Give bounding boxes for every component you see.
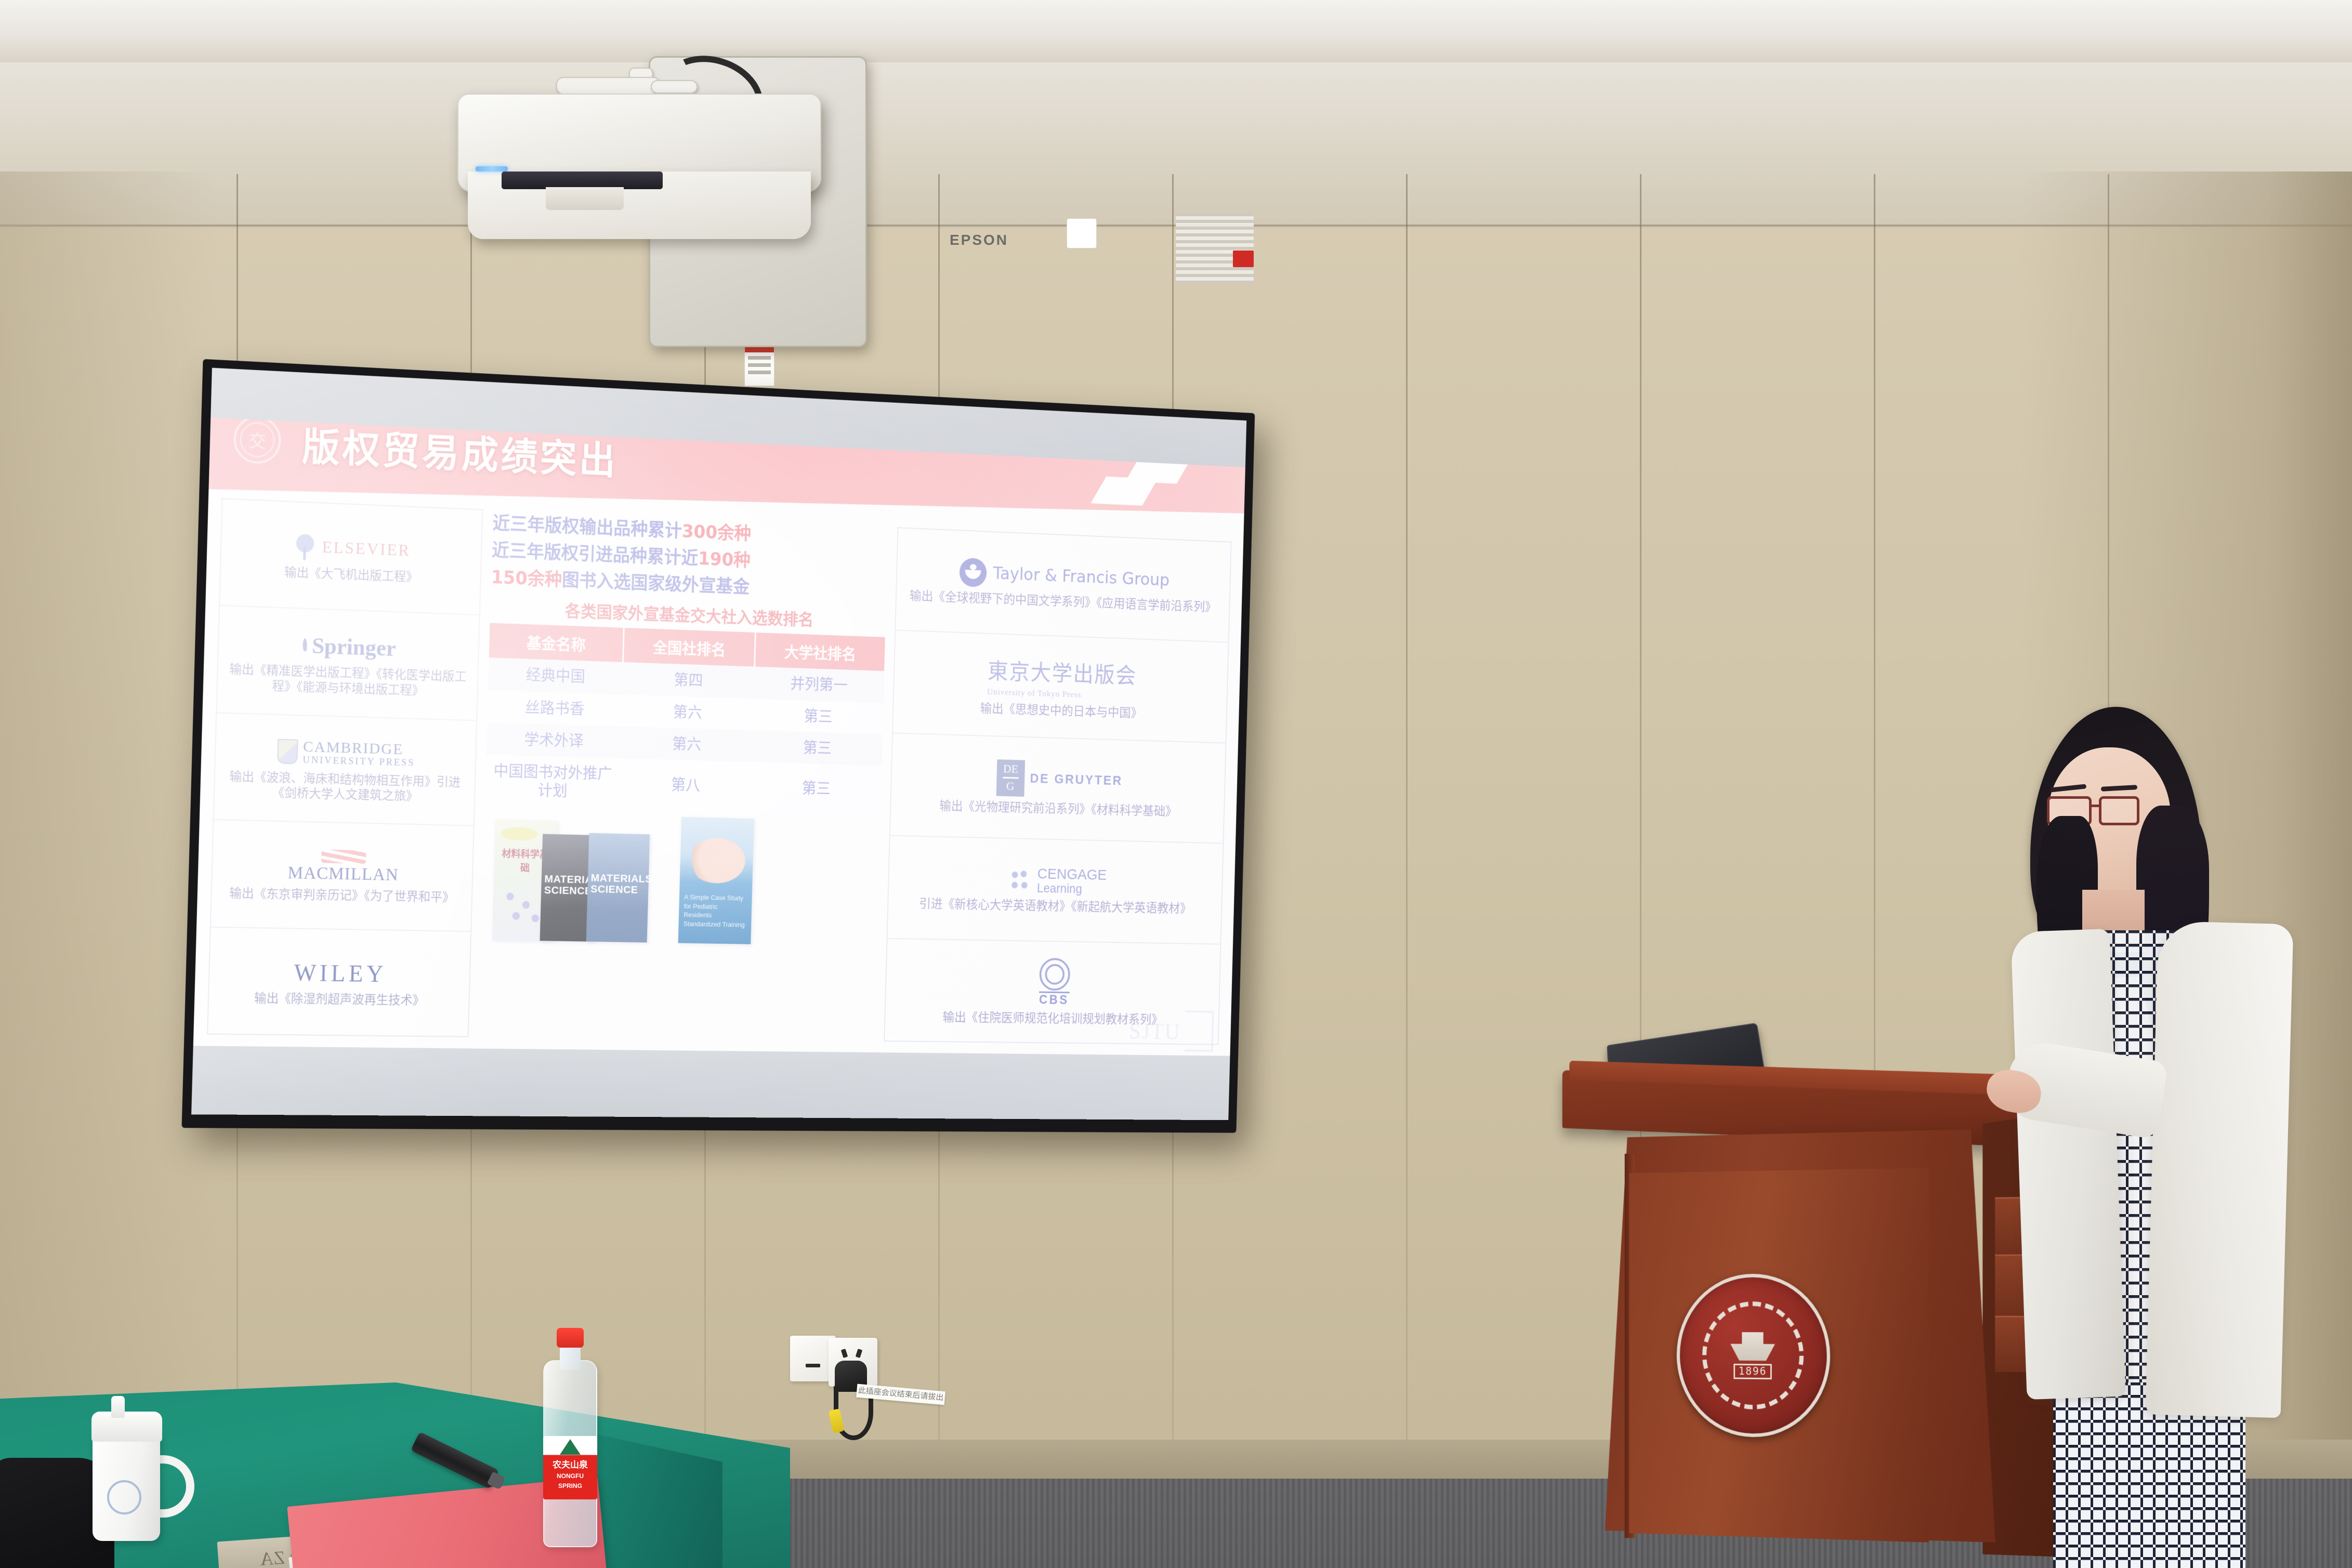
wall-power-outlet[interactable]: 此插座会议结束后请拔出	[790, 1336, 910, 1455]
cell-fund-name: 学术外译	[487, 722, 621, 758]
publisher-note: 输出《大飞机出版工程》	[284, 564, 418, 585]
bottle-cap[interactable]	[557, 1328, 584, 1348]
emblem-year: 1896	[1733, 1363, 1772, 1379]
cell-fund-name: 中国图书对外推广计划	[485, 755, 620, 808]
center-statistics-column: 近三年版权输出品种累计300余种 近三年版权引进品种累计近190种 150余种图…	[476, 510, 891, 1042]
tokyo-press-wordmark: 東京大学出版会	[988, 660, 1137, 689]
publisher-cell-cbs: CBS 输出《住院医师规范化培训规划教材系列》	[885, 939, 1220, 1044]
seal-glyph: 交	[248, 427, 267, 453]
publisher-note: 输出《精准医学出版工程》《转化医学出版工程》《能源与环境出版工程》	[221, 662, 474, 700]
left-publishers-column: ELSEVIER 输出《大飞机出版工程》 Springer 输	[207, 498, 483, 1037]
cengage-logo: CENGAGE Learning	[1007, 866, 1107, 897]
cbs-wordmark: CBS	[1039, 991, 1070, 1007]
publisher-cell-de-gruyter: DE G DE GRUYTER 输出《光物理研究前沿系列》《材料科学基础》	[890, 733, 1225, 844]
sjtu-seal-icon: 交	[233, 417, 281, 464]
projector-brand-label: EPSON	[950, 232, 1008, 248]
wiley-logo: WILEY	[294, 956, 387, 990]
publisher-note: 输出《住院医师规范化培训规划教材系列》	[942, 1009, 1163, 1027]
de-gruyter-mark-icon: DE G	[996, 759, 1025, 797]
tokyo-press-logo: 東京大学出版会 University of Tokyo Press	[987, 653, 1137, 702]
mug-emblem-icon	[107, 1480, 141, 1514]
sjtu-university-emblem: 1896	[1677, 1273, 1830, 1438]
elsevier-wordmark: ELSEVIER	[322, 537, 411, 560]
springer-logo: Springer	[303, 629, 397, 665]
macmillan-flag-icon	[321, 849, 366, 864]
fund-ranking-table: 基金名称 全国社排名 大学社排名 经典中国 第四 并列第一	[485, 623, 885, 815]
bottle-label: 农夫山泉 NONGFU SPRING	[543, 1436, 597, 1499]
water-bottle[interactable]: 农夫山泉 NONGFU SPRING	[543, 1328, 597, 1546]
elsevier-logo: ELSEVIER	[293, 530, 411, 566]
mug-lid[interactable]	[91, 1412, 162, 1442]
cell-university-rank: 并列第一	[754, 667, 884, 703]
publisher-cell-cengage: CENGAGE Learning 引进《新核心大学英语教材》《新起航大学英语教材…	[887, 836, 1223, 944]
macmillan-logo: MACMILLAN	[287, 848, 399, 886]
col-header-national: 全国社排名	[623, 628, 755, 667]
projector-warning-sticker	[1233, 251, 1254, 267]
springer-horse-icon	[303, 641, 307, 650]
springer-wordmark: Springer	[311, 633, 396, 662]
publisher-cell-taylor-francis: Taylor & Francis Group 输出《全球视野下的中国文学系列》《…	[896, 528, 1231, 643]
cell-university-rank: 第三	[751, 762, 882, 815]
publisher-note: 输出《光物理研究前沿系列》《材料科学基础》	[939, 798, 1177, 819]
book-cover-gallery: 材料科学基础 MATERIALS SCIENCE MATERIALS SCIEN…	[481, 811, 880, 946]
publisher-note: 输出《思想史中的日本与中国》	[980, 700, 1142, 720]
wall-notice-sign	[744, 340, 774, 386]
publisher-cell-wiley: WILEY 输出《除湿剂超声波再生技术》	[208, 927, 470, 1036]
publisher-note: 输出《除湿剂超声波再生技术》	[254, 991, 425, 1008]
col-header-university: 大学社排名	[755, 633, 885, 671]
projector-status-led	[476, 166, 508, 172]
projector-badge-icon	[1067, 218, 1097, 248]
cambridge-shield-icon	[277, 739, 298, 764]
letterbox-bottom	[191, 1046, 1230, 1120]
presentation-slide: 交 版权贸易成绩突出 ELSEVIER	[193, 417, 1245, 1056]
wall-shadow-left	[0, 172, 218, 1471]
wall-panel-seam	[1406, 174, 1408, 1458]
table-row: 中国图书对外推广计划 第八 第三	[485, 755, 882, 815]
publisher-note: 输出《波浪、海床和结构物相互作用》引进《剑桥大学人文建筑之旅》	[219, 769, 471, 805]
presenter-blazer-right	[2146, 921, 2294, 1418]
cambridge-logo: CAMBRIDGE UNIVERSITY PRESS	[277, 735, 416, 771]
wiley-wordmark: WILEY	[294, 959, 387, 987]
de-gruyter-wordmark: DE GRUYTER	[1030, 771, 1123, 788]
bottle-mountain-icon	[560, 1439, 581, 1455]
cbs-ring-icon	[1039, 958, 1070, 991]
de-gruyter-logo: DE G DE GRUYTER	[996, 759, 1123, 799]
tokyo-press-subtitle: University of Tokyo Press	[987, 687, 1136, 702]
publisher-cell-elsevier: ELSEVIER 输出《大飞机出版工程》	[220, 499, 482, 615]
taylor-francis-lamp-icon	[959, 558, 987, 587]
bottle-brand-cn: 农夫山泉	[553, 1460, 588, 1470]
col-header-fund-name: 基金名称	[489, 623, 624, 662]
cengage-subtitle: Learning	[1037, 882, 1107, 897]
presenter-blazer-left	[2011, 929, 2125, 1400]
book-title-en: MATERIALS SCIENCE	[544, 874, 594, 897]
cell-national-rank: 第四	[622, 662, 755, 699]
emblem-gear-ring: 1896	[1702, 1301, 1804, 1410]
cell-fund-name: 经典中国	[488, 658, 623, 694]
cell-national-rank: 第八	[619, 758, 752, 811]
taylor-francis-logo: Taylor & Francis Group	[959, 558, 1170, 595]
publisher-cell-tokyo-press: 東京大学出版会 University of Tokyo Press 输出《思想史…	[893, 631, 1228, 744]
cell-fund-name: 丝路书香	[487, 690, 622, 727]
bottle-brand-en: NONGFU SPRING	[557, 1472, 584, 1490]
book-cover-pediatric: A Simple Case Study for Pediatric Reside…	[678, 817, 754, 944]
cambridge-subtitle: UNIVERSITY PRESS	[303, 755, 415, 768]
taylor-francis-wordmark: Taylor & Francis Group	[993, 563, 1170, 590]
book-cover-materials-en-2: MATERIALS SCIENCE	[586, 833, 650, 943]
conference-room-photo: EPSON 交 版权贸易成绩突出	[0, 0, 2352, 1568]
publisher-cell-springer: Springer 输出《精准医学出版工程》《转化医学出版工程》《能源与环境出版工…	[217, 606, 479, 721]
cell-national-rank: 第六	[621, 694, 754, 730]
cengage-dots-icon	[1007, 867, 1032, 893]
publisher-note: 引进《新核心大学英语教材》《新起航大学英语教材》	[919, 896, 1192, 917]
cell-university-rank: 第三	[753, 699, 883, 734]
projector-lens-slot	[502, 172, 663, 189]
emblem-anvil-icon	[1730, 1332, 1775, 1361]
mug-lid-knob[interactable]	[111, 1396, 125, 1418]
projector-vent	[1176, 213, 1254, 284]
projector-lens-hood	[546, 187, 624, 210]
emblem-inner: 1896	[1718, 1319, 1788, 1393]
book-title-en: A Simple Case Study for Pediatric Reside…	[684, 893, 747, 929]
ceiling	[0, 0, 2352, 62]
presenter	[1980, 686, 2352, 1568]
cbs-logo: CBS	[1039, 958, 1070, 1008]
right-publishers-column: Taylor & Francis Group 输出《全球视野下的中国文学系列》《…	[884, 527, 1231, 1045]
cengage-wordmark: CENGAGE	[1037, 866, 1107, 884]
macmillan-wordmark: MACMILLAN	[287, 863, 399, 885]
publisher-note: 输出《全球视野下的中国文学系列》《应用语言学前沿系列》	[910, 588, 1217, 615]
book-title-en: MATERIALS SCIENCE	[590, 873, 646, 896]
elsevier-tree-icon	[293, 532, 317, 560]
publisher-note: 输出《东京审判亲历记》《为了世界和平》	[229, 886, 455, 905]
cell-national-rank: 第六	[620, 727, 753, 762]
cell-university-rank: 第三	[752, 730, 883, 766]
publisher-cell-macmillan: MACMILLAN 输出《东京审判亲历记》《为了世界和平》	[211, 820, 474, 932]
projection-screen: 交 版权贸易成绩突出 ELSEVIER	[181, 359, 1255, 1133]
publisher-cell-cambridge: CAMBRIDGE UNIVERSITY PRESS 输出《波浪、海床和结构物相…	[214, 713, 477, 826]
